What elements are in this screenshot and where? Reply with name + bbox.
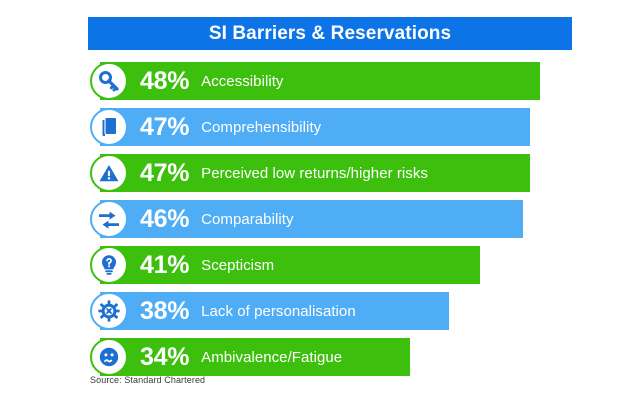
chart-row: 38% Lack of personalisation: [0, 292, 640, 330]
bar-text-group: 34% Ambivalence/Fatigue: [140, 338, 342, 376]
warning-triangle-icon: [90, 154, 128, 192]
bar-text-group: 46% Comparability: [140, 200, 294, 238]
gear-x-icon: [90, 292, 128, 330]
lightbulb-question-icon: [90, 246, 128, 284]
bar-value: 34%: [140, 343, 189, 372]
page-title: SI Barriers & Reservations: [209, 23, 451, 45]
chart-row: 47% Comprehensibility: [0, 108, 640, 146]
chart-row: 41% Scepticism: [0, 246, 640, 284]
bar-text-group: 48% Accessibility: [140, 62, 283, 100]
bar-value: 47%: [140, 159, 189, 188]
bar-text-group: 38% Lack of personalisation: [140, 292, 356, 330]
bar-value: 48%: [140, 67, 189, 96]
bar-value: 47%: [140, 113, 189, 142]
infographic-root: SI Barriers & Reservations 48% Accessibi…: [0, 0, 640, 400]
bar-value: 38%: [140, 297, 189, 326]
chart-row: 46% Comparability: [0, 200, 640, 238]
bar-label: Accessibility: [201, 73, 283, 90]
bar-label: Lack of personalisation: [201, 303, 356, 320]
bar-label: Perceived low returns/higher risks: [201, 165, 428, 182]
key-icon: [90, 62, 128, 100]
chart-row: 47% Perceived low returns/higher risks: [0, 154, 640, 192]
bar-label: Scepticism: [201, 257, 274, 274]
bar-label: Ambivalence/Fatigue: [201, 349, 342, 366]
bar-text-group: 47% Comprehensibility: [140, 108, 321, 146]
chart-row: 48% Accessibility: [0, 62, 640, 100]
compare-arrows-icon: [90, 200, 128, 238]
chart-row: 34% Ambivalence/Fatigue: [0, 338, 640, 376]
bar-text-group: 41% Scepticism: [140, 246, 274, 284]
confused-face-icon: [90, 338, 128, 376]
source-note: Source: Standard Chartered: [90, 375, 205, 385]
bar-label: Comprehensibility: [201, 119, 321, 136]
bar-label: Comparability: [201, 211, 293, 228]
bar-value: 46%: [140, 205, 189, 234]
header-banner: SI Barriers & Reservations: [88, 17, 572, 50]
book-icon: [90, 108, 128, 146]
bar-chart: 48% Accessibility 47% Comprehensibility: [0, 62, 640, 384]
bar-value: 41%: [140, 251, 189, 280]
bar-text-group: 47% Perceived low returns/higher risks: [140, 154, 428, 192]
